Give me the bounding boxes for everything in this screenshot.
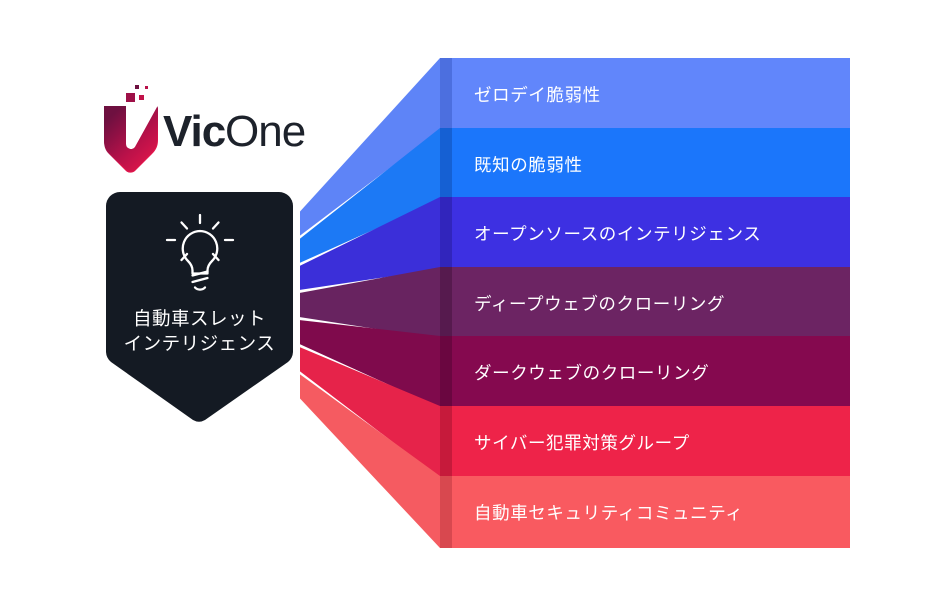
category-bar[interactable]: ゼロデイ脆弱性 <box>440 58 850 130</box>
vicone-shield-mark <box>95 82 167 177</box>
category-bar[interactable]: サイバー犯罪対策グループ <box>440 406 850 478</box>
category-bar-label: サイバー犯罪対策グループ <box>440 430 690 455</box>
vicone-logo: Vic One <box>95 82 320 177</box>
category-bar-label: ゼロデイ脆弱性 <box>440 82 601 107</box>
category-bar-label: ダークウェブのクローリング <box>440 360 709 385</box>
svg-text:Vic: Vic <box>163 107 226 156</box>
category-bar-label: 自動車セキュリティコミュニティ <box>440 500 743 525</box>
category-bar-label: オープンソースのインテリジェンス <box>440 221 761 246</box>
category-bar[interactable]: ダークウェブのクローリング <box>440 336 850 408</box>
vicone-wordmark: Vic One <box>163 104 323 160</box>
lightbulb-icon <box>154 210 246 302</box>
svg-text:One: One <box>225 107 305 156</box>
category-bar-label: ディープウェブのクローリング <box>440 291 725 316</box>
hub-title-line-2: インテリジェンス <box>124 331 276 356</box>
category-bar[interactable]: 自動車セキュリティコミュニティ <box>440 476 850 548</box>
category-bar[interactable]: オープンソースのインテリジェンス <box>440 197 850 269</box>
category-bar[interactable]: ディープウェブのクローリング <box>440 267 850 339</box>
threat-intelligence-diagram: Vic One <box>0 0 950 600</box>
category-bar-label: 既知の脆弱性 <box>440 152 583 177</box>
hub-title-line-1: 自動車スレット <box>133 306 266 331</box>
threat-intelligence-hub: 自動車スレット インテリジェンス <box>92 192 307 424</box>
category-bar[interactable]: 既知の脆弱性 <box>440 128 850 200</box>
